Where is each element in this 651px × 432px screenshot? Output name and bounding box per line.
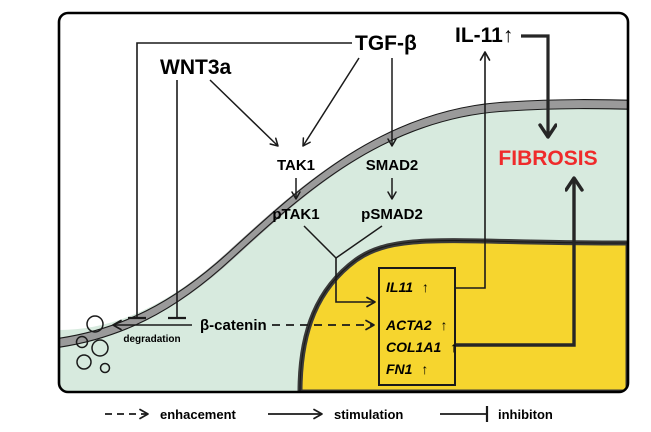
legend-label-enhancement: enhacement xyxy=(160,407,237,422)
legend-label-inhibition: inhibiton xyxy=(498,407,553,422)
nucleus-region xyxy=(300,241,628,392)
gene-row-fn1: FN1 ↑ xyxy=(386,361,428,377)
gene-row-il11: IL11 ↑ xyxy=(386,279,429,295)
legend: enhacement stimulation inhibiton xyxy=(105,406,553,422)
gene-change: ↑ xyxy=(450,339,457,355)
ligand-label-wnt3a: WNT3a xyxy=(160,56,231,79)
gene-name: IL11 xyxy=(386,279,413,295)
node-label-beta-catenin: β-catenin xyxy=(200,317,267,334)
outcome-label-fibrosis: FIBROSIS xyxy=(498,147,597,170)
ligand-label-tgfb: TGF-β xyxy=(355,32,417,55)
gene-change: ↑ xyxy=(441,317,448,333)
pathway-diagram-canvas: TGF-β WNT3a IL-11↑ TAK1 SMAD2 pTAK1 pSMA… xyxy=(0,0,651,432)
gene-name: ACTA2 xyxy=(385,317,432,333)
ligand-label-il11: IL-11↑ xyxy=(455,24,513,47)
gene-name: COL1A1 xyxy=(386,339,441,355)
node-label-psmad2: pSMAD2 xyxy=(361,206,423,223)
legend-label-stimulation: stimulation xyxy=(334,407,403,422)
cell-compartments xyxy=(40,100,640,392)
node-label-smad2: SMAD2 xyxy=(366,157,419,174)
pathway-svg: TGF-β WNT3a IL-11↑ TAK1 SMAD2 pTAK1 pSMA… xyxy=(0,0,651,432)
gene-name: FN1 xyxy=(386,361,413,377)
degradation-label: degradation xyxy=(123,334,180,345)
gene-change: ↑ xyxy=(422,279,429,295)
edge-wnt3a-to-tak1 xyxy=(210,80,278,146)
node-label-ptak1: pTAK1 xyxy=(272,206,319,223)
gene-change: ↑ xyxy=(421,361,428,377)
node-label-tak1: TAK1 xyxy=(277,157,315,174)
edge-tgfb-to-tak1 xyxy=(303,58,359,146)
